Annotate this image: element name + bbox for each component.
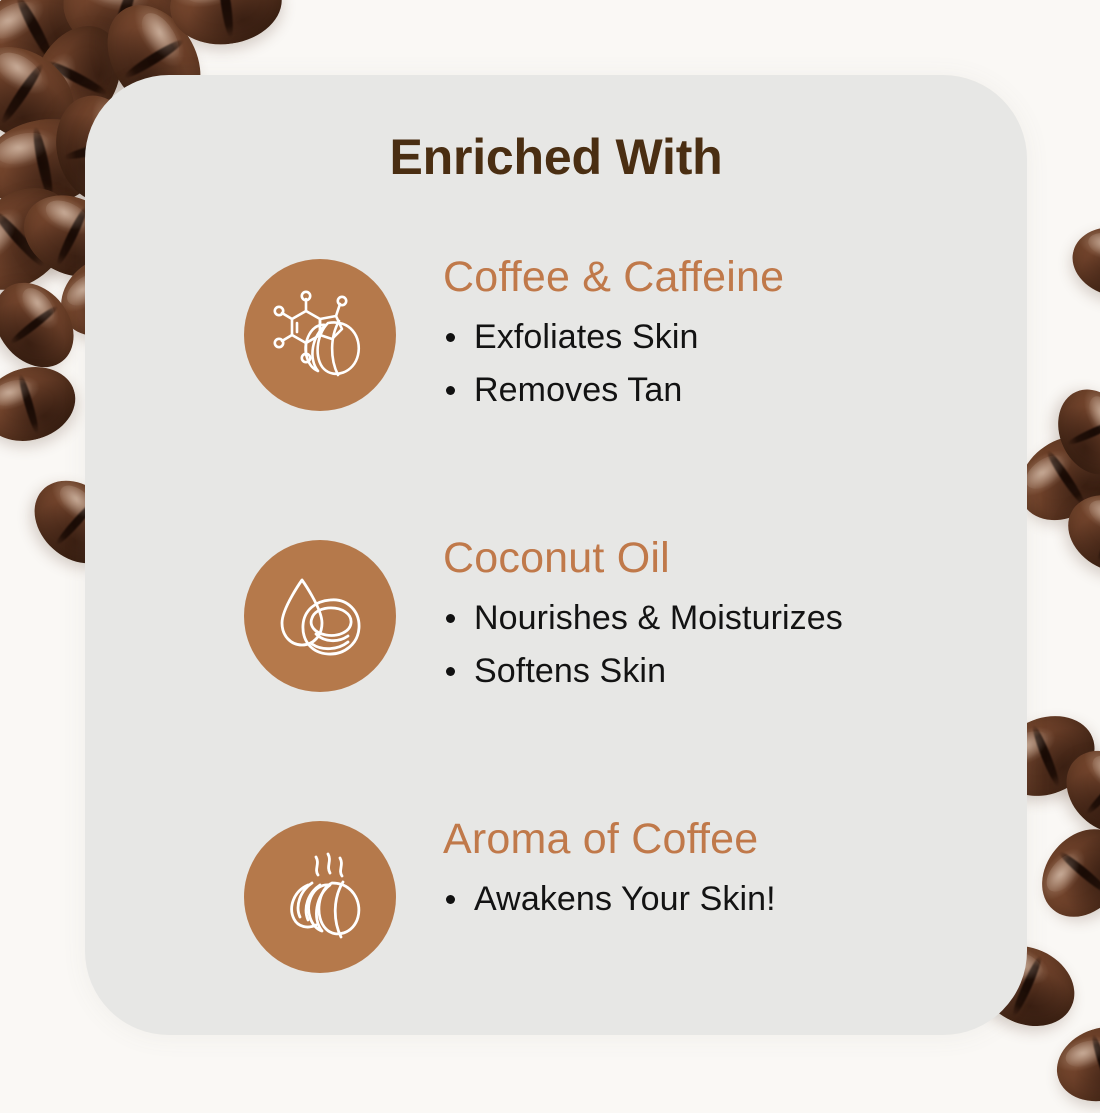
coffee-bean [0, 356, 84, 451]
ingredient-name: Coffee & Caffeine [443, 255, 987, 301]
coffee-bean [0, 0, 107, 95]
ingredient-list: Coffee & Caffeine Exfoliates Skin Remove… [85, 255, 1027, 817]
bullet-icon [446, 333, 455, 342]
ingredient-name: Aroma of Coffee [443, 817, 987, 863]
bullet-icon [446, 895, 455, 904]
coffee-bean [1045, 378, 1100, 486]
ingredient-text-block: Coffee & Caffeine Exfoliates Skin Remove… [443, 255, 987, 407]
benefit-item: Softens Skin [443, 654, 987, 688]
bullet-icon [446, 386, 455, 395]
coffee-bean [1047, 1015, 1100, 1113]
ingredient-name: Coconut Oil [443, 536, 987, 582]
ingredient-icon-badge [244, 540, 396, 692]
oil-droplet-coconut-icon [268, 564, 372, 668]
benefit-item: Awakens Your Skin! [443, 882, 987, 916]
coffee-bean [1065, 218, 1100, 305]
coffee-bean [165, 0, 287, 51]
page-title: Enriched With [85, 128, 1027, 186]
coffee-bean [1025, 812, 1100, 933]
ingredient-icon-badge [244, 259, 396, 411]
coffee-bean [51, 0, 196, 75]
benefit-item: Exfoliates Skin [443, 320, 987, 354]
benefit-label: Awakens Your Skin! [474, 880, 776, 918]
benefit-item: Nourishes & Moisturizes [443, 601, 987, 635]
caffeine-molecule-coffee-bean-icon [268, 283, 372, 387]
benefit-label: Exfoliates Skin [474, 318, 699, 356]
benefit-label: Removes Tan [474, 371, 682, 409]
coffee-beans-aroma-icon [268, 845, 372, 949]
infographic-canvas: Enriched With [0, 0, 1100, 1100]
ingredient-row-coffee-caffeine: Coffee & Caffeine Exfoliates Skin Remove… [85, 255, 1027, 536]
ingredient-row-coconut-oil: Coconut Oil Nourishes & Moisturizes Soft… [85, 536, 1027, 817]
bullet-icon [446, 614, 455, 623]
benefit-label: Softens Skin [474, 652, 666, 690]
coffee-bean [1055, 480, 1100, 588]
benefit-label: Nourishes & Moisturizes [474, 599, 843, 637]
coffee-bean [0, 168, 92, 311]
benefit-item: Removes Tan [443, 373, 987, 407]
benefit-list: Exfoliates Skin Removes Tan [443, 320, 987, 407]
bullet-icon [446, 667, 455, 676]
enriched-with-card: Enriched With [85, 75, 1027, 1035]
coffee-bean [0, 267, 90, 383]
benefit-list: Awakens Your Skin! [443, 882, 987, 916]
ingredient-text-block: Aroma of Coffee Awakens Your Skin! [443, 817, 987, 916]
ingredient-text-block: Coconut Oil Nourishes & Moisturizes Soft… [443, 536, 987, 688]
ingredient-icon-badge [244, 821, 396, 973]
coffee-bean [0, 28, 92, 160]
benefit-list: Nourishes & Moisturizes Softens Skin [443, 601, 987, 688]
coffee-bean [1050, 734, 1100, 850]
